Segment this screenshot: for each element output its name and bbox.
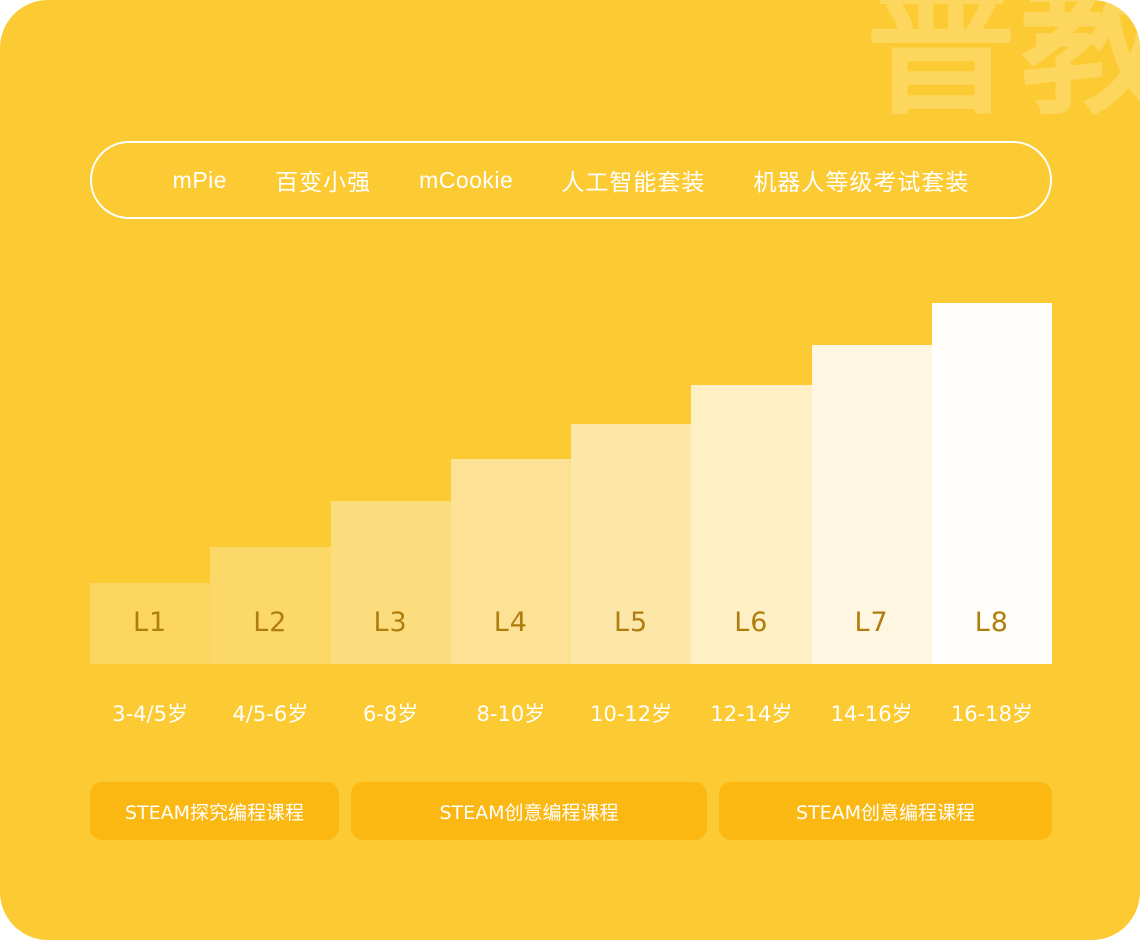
age-label-l1: 3-4/5岁 bbox=[90, 698, 210, 728]
bar-l8[interactable]: L8 bbox=[932, 303, 1052, 664]
nav-item-0[interactable]: mPie bbox=[149, 167, 251, 194]
course-pill-1[interactable]: STEAM创意编程课程 bbox=[351, 782, 707, 840]
bar-label-l7: L7 bbox=[855, 607, 889, 664]
bar-label-l2: L2 bbox=[253, 607, 287, 664]
nav-item-2[interactable]: mCookie bbox=[395, 167, 537, 194]
bar-label-l8: L8 bbox=[975, 607, 1009, 664]
watermark-text: 普教 bbox=[866, 0, 1140, 124]
level-bar-chart: L1 L2 L3 L4 L5 L6 L7 L8 bbox=[90, 280, 1052, 664]
age-label-l3: 6-8岁 bbox=[331, 698, 451, 728]
age-range-axis: 3-4/5岁 4/5-6岁 6-8岁 8-10岁 10-12岁 12-14岁 1… bbox=[90, 698, 1052, 728]
bar-label-l4: L4 bbox=[494, 607, 528, 664]
course-level-card: 普教 mPie 百变小强 mCookie 人工智能套装 机器人等级考试套装 L1… bbox=[0, 0, 1140, 940]
course-pill-0[interactable]: STEAM探究编程课程 bbox=[90, 782, 339, 840]
bar-l2[interactable]: L2 bbox=[210, 547, 330, 664]
bar-l6[interactable]: L6 bbox=[691, 385, 811, 664]
bar-l5[interactable]: L5 bbox=[571, 424, 691, 664]
course-pill-row: STEAM探究编程课程 STEAM创意编程课程 STEAM创意编程课程 bbox=[90, 782, 1052, 840]
nav-item-1[interactable]: 百变小强 bbox=[251, 163, 395, 197]
bar-label-l5: L5 bbox=[614, 607, 648, 664]
product-nav-bar: mPie 百变小强 mCookie 人工智能套装 机器人等级考试套装 bbox=[90, 141, 1052, 219]
age-label-l2: 4/5-6岁 bbox=[210, 698, 330, 728]
bar-label-l1: L1 bbox=[133, 607, 167, 664]
age-label-l7: 14-16岁 bbox=[812, 698, 932, 728]
nav-item-4[interactable]: 机器人等级考试套装 bbox=[729, 163, 993, 197]
bar-label-l6: L6 bbox=[734, 607, 768, 664]
age-label-l5: 10-12岁 bbox=[571, 698, 691, 728]
bar-l1[interactable]: L1 bbox=[90, 583, 210, 664]
age-label-l6: 12-14岁 bbox=[691, 698, 811, 728]
age-label-l8: 16-18岁 bbox=[932, 698, 1052, 728]
age-label-l4: 8-10岁 bbox=[451, 698, 571, 728]
bar-l4[interactable]: L4 bbox=[451, 459, 571, 664]
course-pill-2[interactable]: STEAM创意编程课程 bbox=[719, 782, 1052, 840]
nav-item-3[interactable]: 人工智能套装 bbox=[537, 163, 729, 197]
bar-l3[interactable]: L3 bbox=[331, 501, 451, 664]
bar-l7[interactable]: L7 bbox=[812, 345, 932, 664]
bar-label-l3: L3 bbox=[374, 607, 408, 664]
